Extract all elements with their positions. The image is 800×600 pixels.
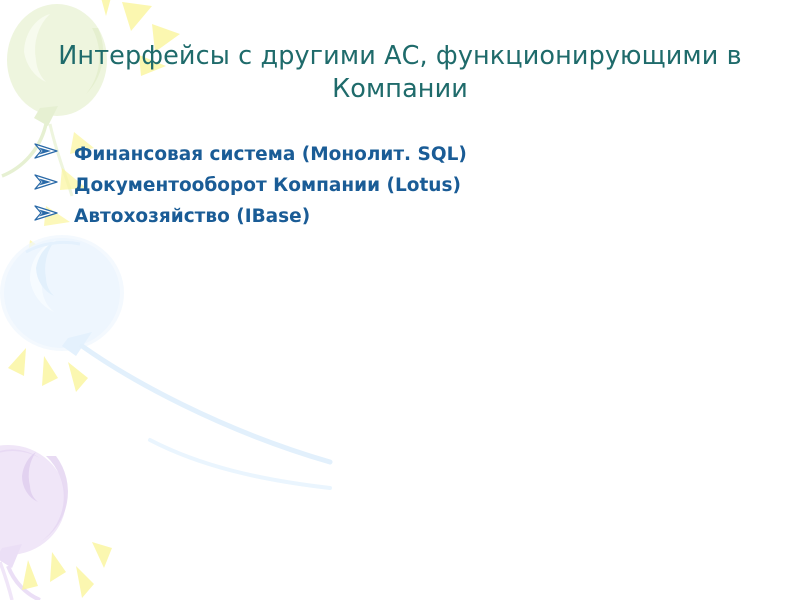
chevron-arrow-bullet-icon (26, 174, 74, 190)
blue-balloon (0, 235, 330, 488)
list-item-label: Автохозяйство (IBase) (74, 205, 766, 228)
page-title: Интерфейсы с другими АС, функционирующим… (50, 40, 750, 105)
list-item: Автохозяйство (IBase) (26, 205, 766, 228)
purple-balloon-rays-icon (22, 542, 112, 598)
presentation-slide: Интерфейсы с другими АС, функционирующим… (0, 0, 800, 600)
bullet-list: Финансовая система (Монолит. SQL) Докуме… (26, 143, 766, 236)
list-item: Финансовая система (Монолит. SQL) (26, 143, 766, 166)
purple-balloon (0, 445, 68, 600)
list-item-label: Финансовая система (Монолит. SQL) (74, 143, 766, 166)
chevron-arrow-bullet-icon (26, 205, 74, 221)
chevron-arrow-bullet-icon (26, 143, 74, 159)
list-item: Документооборот Компании (Lotus) (26, 174, 766, 197)
slide-title-block: Интерфейсы с другими АС, функционирующим… (50, 40, 750, 105)
blue-balloon-rays-icon (8, 348, 88, 392)
list-item-label: Документооборот Компании (Lotus) (74, 174, 766, 197)
